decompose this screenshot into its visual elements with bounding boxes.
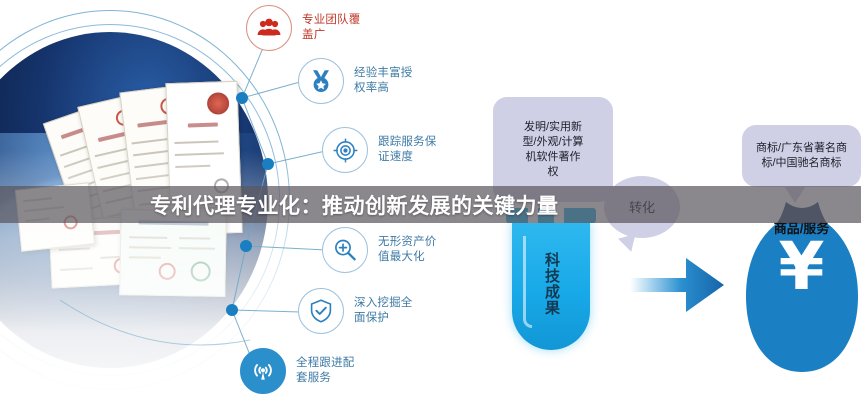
feature-label: 经验丰富授 权率高 xyxy=(354,66,413,96)
broadcast-icon xyxy=(240,348,286,394)
feature-item-tracking[interactable]: 跟踪服务保 证速度 xyxy=(322,127,437,173)
science-achievement-tube: 科技成果 xyxy=(512,222,590,350)
feature-item-team[interactable]: 专业团队覆 盖广 xyxy=(246,5,361,51)
tube-label: 科技成果 xyxy=(541,236,561,332)
feature-label: 深入挖掘全 面保护 xyxy=(354,296,413,326)
network-node xyxy=(236,92,248,104)
shield-check-icon xyxy=(298,288,344,334)
feature-item-experience[interactable]: 经验丰富授 权率高 xyxy=(298,58,413,104)
bubble-trademark-types: 商标/广东省著名商 标/中国驰名商标 xyxy=(742,125,861,187)
target-icon xyxy=(322,127,368,173)
money-bag-graphic: 商品/服务 ¥ xyxy=(742,198,861,390)
feature-label: 跟踪服务保 证速度 xyxy=(378,135,437,165)
feature-item-service[interactable]: 全程跟进配 套服务 xyxy=(240,348,355,394)
magnifier-plus-icon xyxy=(322,227,368,273)
feature-label: 无形资产价 值最大化 xyxy=(378,235,437,265)
bubble-text: 发明/实用新 型/外观/计算 机软件著作 权 xyxy=(522,120,583,180)
network-node xyxy=(262,158,274,170)
feature-item-protect[interactable]: 深入挖掘全 面保护 xyxy=(298,288,413,334)
arrow-right-icon xyxy=(630,250,756,320)
infographic-canvas: 专业团队覆 盖广 经验丰富授 权率高 xyxy=(0,0,861,400)
network-node xyxy=(240,240,252,252)
medal-star-icon xyxy=(298,58,344,104)
page-title: 专利代理专业化：推动创新发展的关键力量 xyxy=(150,190,559,220)
feature-item-value[interactable]: 无形资产价 值最大化 xyxy=(322,227,437,273)
users-icon xyxy=(246,5,292,51)
feature-label: 全程跟进配 套服务 xyxy=(296,356,355,386)
bubble-text: 商标/广东省著名商 标/中国驰名商标 xyxy=(756,141,847,171)
yen-symbol: ¥ xyxy=(742,234,861,300)
network-node xyxy=(226,304,238,316)
feature-label: 专业团队覆 盖广 xyxy=(302,13,361,43)
tube-highlight xyxy=(523,236,532,328)
title-overlay-band: 专利代理专业化：推动创新发展的关键力量 xyxy=(0,186,861,223)
